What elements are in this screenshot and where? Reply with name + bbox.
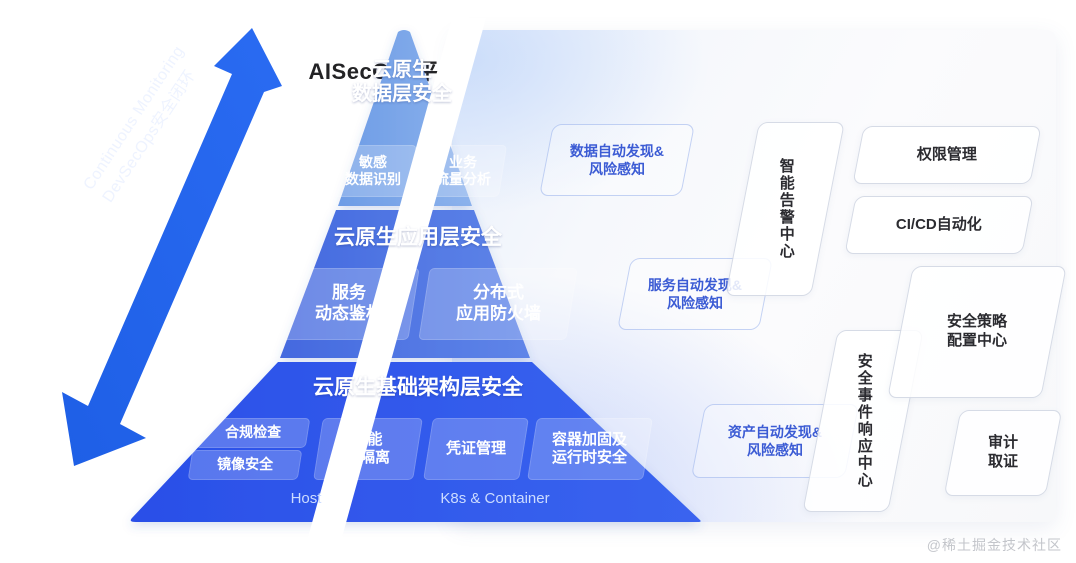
box-permission-management[interactable]: 权限管理 — [852, 126, 1041, 184]
chip-line2: 流量分析 — [435, 171, 491, 187]
box-security-policy-center[interactable]: 安全策略 配置中心 — [887, 266, 1067, 398]
box-label: 安全事件响应中心 — [854, 353, 873, 489]
chip-business-traffic-analysis: 业务 流量分析 — [419, 145, 507, 197]
box-line1: 安全策略 — [947, 313, 1007, 330]
box-label: CI/CD自动化 — [896, 216, 982, 235]
arrow-label-line1: Continuous Monitoring — [78, 0, 263, 195]
chip-line2: 微隔离 — [345, 449, 390, 466]
chip-line1: 分布式 — [473, 283, 524, 302]
box-audit-forensics[interactable]: 审计 取证 — [944, 410, 1063, 496]
arrow-label-group: Continuous Monitoring DevSecOps安全闭环 — [20, 10, 350, 500]
box-label: 智能告警中心 — [776, 158, 795, 260]
chip-line2: 数据识别 — [345, 171, 401, 187]
chip-line2: 运行时安全 — [552, 449, 627, 466]
box-line1: 审计 — [988, 434, 1018, 451]
chip-container-hardening-runtime-security: 容器加固及 运行时安全 — [527, 418, 653, 480]
chip-line2: 应用防火墙 — [456, 304, 541, 323]
chip-line1: 业务 — [449, 154, 477, 170]
box-line2: 取证 — [988, 453, 1018, 470]
box-line2: 风险感知 — [667, 294, 723, 310]
watermark: @稀土掘金技术社区 — [927, 535, 1062, 555]
chip-label: 凭证管理 — [446, 440, 506, 458]
foot-label-k8s-container: K8s & Container — [400, 490, 590, 507]
arrow-label-line2: DevSecOps安全闭环 — [97, 0, 282, 208]
box-line1: 资产自动发现& — [728, 424, 822, 440]
chip-line1: 敏感 — [359, 154, 387, 170]
box-cicd-automation[interactable]: CI/CD自动化 — [844, 196, 1033, 254]
chip-line1: 容器加固及 — [552, 431, 627, 448]
chip-distributed-application-firewall: 分布式 应用防火墙 — [418, 268, 577, 340]
box-label: 权限管理 — [917, 146, 977, 165]
chip-line1: 智能 — [353, 431, 383, 448]
diagram-canvas: AISecOps平台 — [0, 0, 1076, 563]
box-line2: 配置中心 — [947, 332, 1007, 349]
chip-credential-management: 凭证管理 — [423, 418, 529, 480]
box-line2: 风险感知 — [589, 160, 645, 176]
box-line2: 风险感知 — [747, 441, 803, 457]
arrow-label: Continuous Monitoring DevSecOps安全闭环 — [78, 0, 282, 208]
box-data-discovery[interactable]: 数据自动发现& 风险感知 — [539, 124, 695, 196]
box-line1: 数据自动发现& — [570, 143, 664, 159]
